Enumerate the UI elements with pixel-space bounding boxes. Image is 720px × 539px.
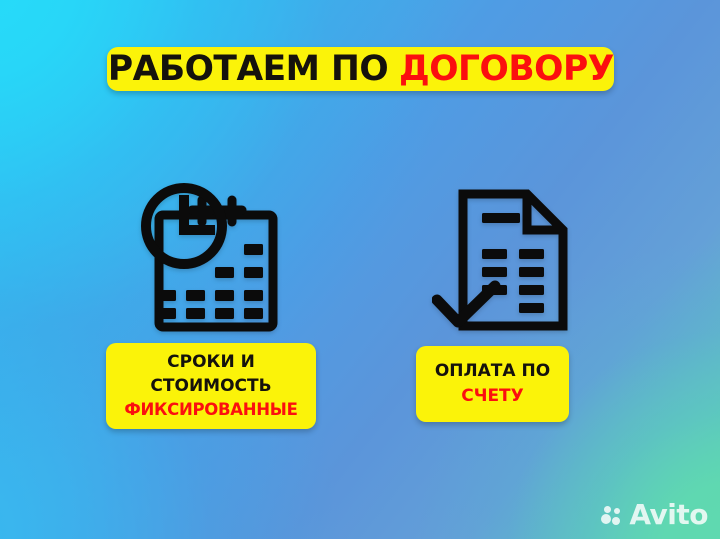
avito-logo-icon: [601, 503, 625, 527]
avito-watermark: Avito: [601, 501, 708, 529]
caption-right-line-1: ОПЛАТА ПО: [435, 359, 550, 385]
title-text-red: ДОГОВОРУ: [399, 52, 614, 87]
avito-wordmark: Avito: [629, 501, 708, 529]
caption-left-line-1: СРОКИ И: [167, 350, 255, 374]
caption-payment-by-invoice: ОПЛАТА ПО СЧЕТУ: [416, 346, 569, 422]
caption-deadlines-and-cost: СРОКИ И СТОИМОСТЬ ФИКСИРОВАННЫЕ: [106, 343, 316, 429]
caption-right-line-2: СЧЕТУ: [461, 384, 524, 410]
page-title: РАБОТАЕМ ПО ДОГОВОРУ: [108, 52, 614, 87]
title-banner: РАБОТАЕМ ПО ДОГОВОРУ: [107, 47, 614, 91]
calendar-clock-icon: [140, 182, 292, 332]
poster-canvas: РАБОТАЕМ ПО ДОГОВОРУ: [0, 0, 720, 539]
invoice-check-icon: [432, 184, 574, 334]
caption-left-line-2: СТОИМОСТЬ: [150, 374, 271, 398]
title-text-black: РАБОТАЕМ ПО: [108, 52, 388, 87]
caption-left-line-3: ФИКСИРОВАННЫЕ: [124, 398, 297, 421]
